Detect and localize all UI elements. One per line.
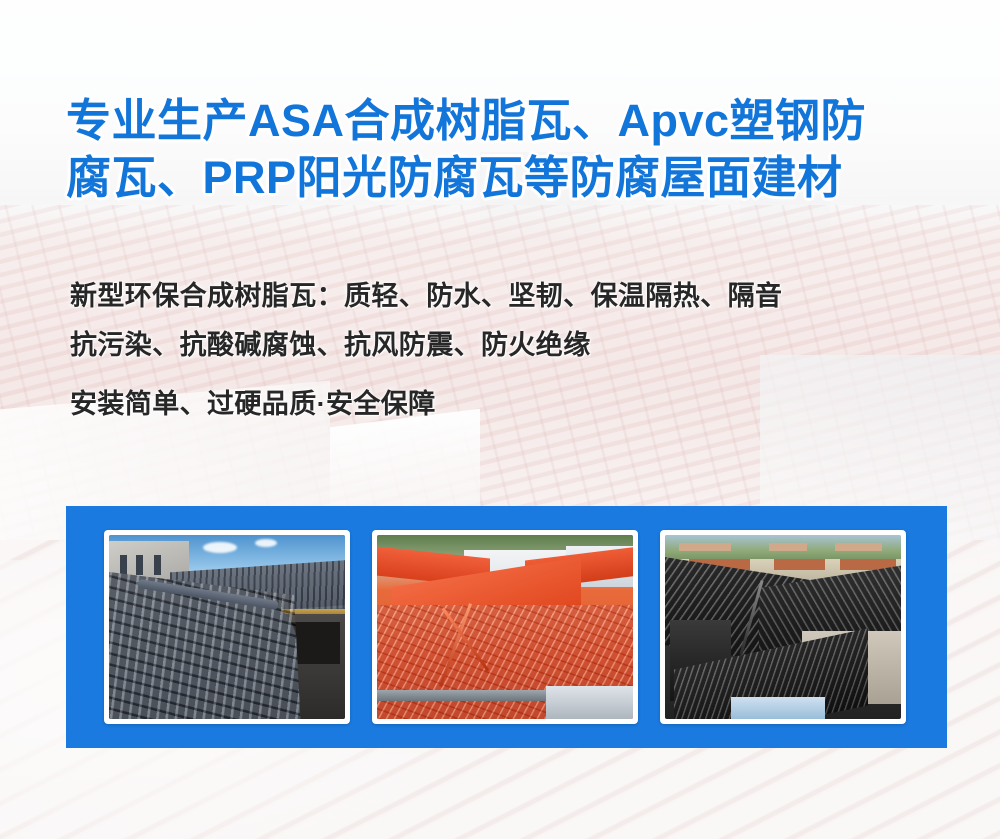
red-resin-tile-roof-photo xyxy=(377,535,633,719)
headline-line-2: 腐瓦、PRP阳光防腐瓦等防腐屋面建材 xyxy=(66,149,946,206)
black-resin-tile-roof-photo xyxy=(665,535,901,719)
photo-frame-3[interactable] xyxy=(660,530,906,724)
headline: 专业生产ASA合成树脂瓦、Apvc塑钢防 腐瓦、PRP阳光防腐瓦等防腐屋面建材 xyxy=(66,92,946,206)
product-banner: 专业生产ASA合成树脂瓦、Apvc塑钢防 腐瓦、PRP阳光防腐瓦等防腐屋面建材 … xyxy=(0,0,1000,839)
photo-gallery-panel xyxy=(66,506,947,748)
headline-line-1: 专业生产ASA合成树脂瓦、Apvc塑钢防 xyxy=(66,92,946,149)
subheadline-line-3: 安装简单、过硬品质·安全保障 xyxy=(70,380,950,429)
subheadline: 新型环保合成树脂瓦：质轻、防水、坚韧、保温隔热、隔音 抗污染、抗酸碱腐蚀、抗风防… xyxy=(70,272,950,429)
subheadline-line-1: 新型环保合成树脂瓦：质轻、防水、坚韧、保温隔热、隔音 xyxy=(70,272,950,321)
photo-frame-2[interactable] xyxy=(372,530,638,724)
subheadline-line-2: 抗污染、抗酸碱腐蚀、抗风防震、防火绝缘 xyxy=(70,321,950,370)
grey-resin-tile-roof-photo xyxy=(109,535,345,719)
photo-frame-1[interactable] xyxy=(104,530,350,724)
